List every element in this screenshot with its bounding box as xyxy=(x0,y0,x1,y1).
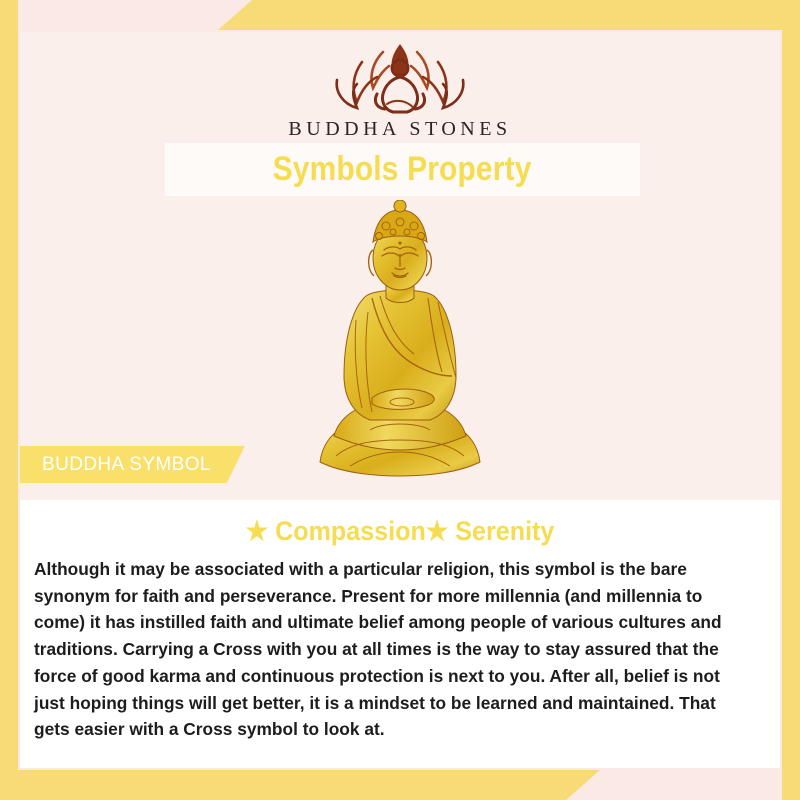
lotus-meditation-figure-icon xyxy=(315,36,485,120)
brand-logo: BUDDHA STONES xyxy=(20,32,780,144)
frame-bottom-bar xyxy=(0,770,600,800)
article-card: ★ Compassion★ Serenity Although it may b… xyxy=(20,500,780,768)
page-title: Symbols Property xyxy=(273,150,532,189)
brand-wordmark: BUDDHA STONES xyxy=(288,118,511,141)
content-canvas: BUDDHA STONES Symbols Property xyxy=(20,32,780,768)
symbol-tag-label: BUDDHA SYMBOL xyxy=(42,454,211,476)
frame-left-bar xyxy=(0,0,18,800)
title-banner: Symbols Property xyxy=(165,143,640,196)
seated-golden-buddha-statue-icon xyxy=(310,200,490,490)
frame-right-bar xyxy=(782,0,800,800)
frame-top-bar xyxy=(218,0,800,30)
article-heading: ★ Compassion★ Serenity xyxy=(60,516,741,547)
article-body-text: Although it may be associated with a par… xyxy=(34,556,755,743)
symbol-tag-banner: BUDDHA SYMBOL xyxy=(20,446,245,483)
